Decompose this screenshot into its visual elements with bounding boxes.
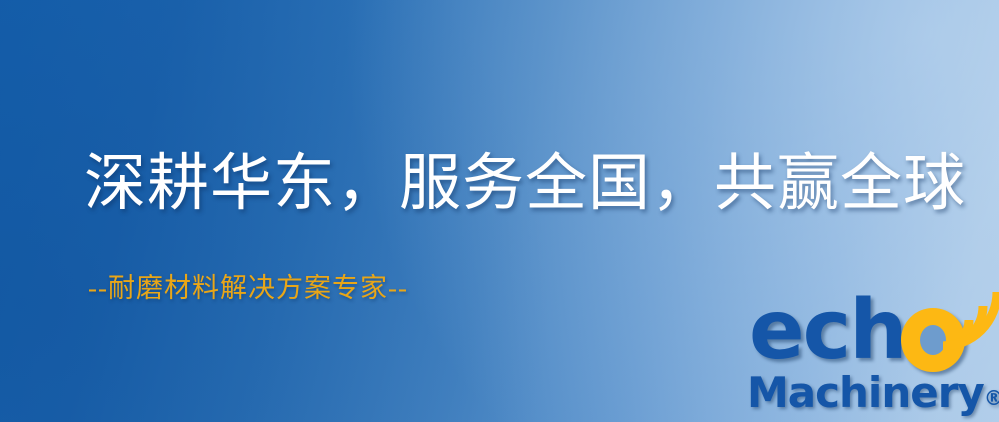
logo-brand-line: Machinery® [747,370,999,421]
banner-subtitle: --耐磨材料解决方案专家-- [88,266,408,305]
logo-wordmark-ech: ech [749,288,906,374]
logo-wordmark-row: ech [745,292,999,378]
logo-brand-text: Machinery [747,368,984,417]
registered-trademark-icon: ® [984,386,999,410]
echo-machinery-logo[interactable]: ech Machinery® [745,292,999,422]
banner-headline: 深耕华东，服务全国，共赢全球 [84,152,966,217]
signal-arc-icon [941,288,999,354]
promo-banner: 深耕华东，服务全国，共赢全球 --耐磨材料解决方案专家-- ech Machin… [0,0,999,422]
